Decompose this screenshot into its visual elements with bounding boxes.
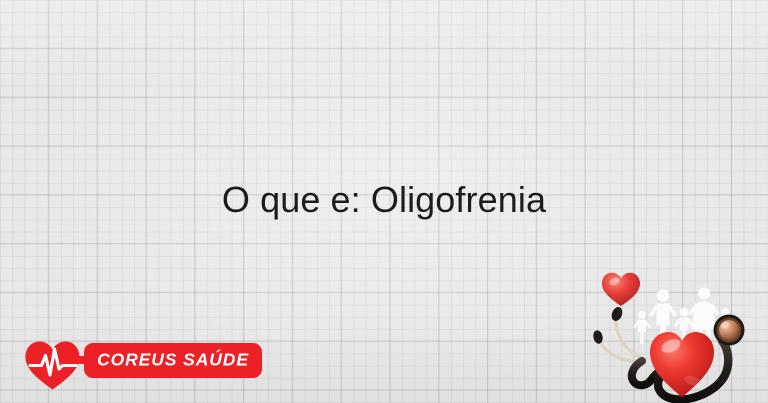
brand-name-label: COREUS SAÚDE [97, 350, 249, 371]
stethoscope-chestpiece-icon [714, 315, 745, 346]
brand-logo[interactable]: COREUS SAÚDE [24, 336, 268, 390]
brand-name-badge: COREUS SAÚDE [84, 343, 262, 378]
slide-canvas: O que e: Oligofrenia COREUS SAÚDE [0, 0, 768, 403]
small-heart-icon [602, 273, 640, 306]
health-care-illustration [585, 258, 768, 403]
heart-ekg-icon [24, 340, 81, 390]
page-title: O que e: Oligofrenia [0, 178, 768, 222]
